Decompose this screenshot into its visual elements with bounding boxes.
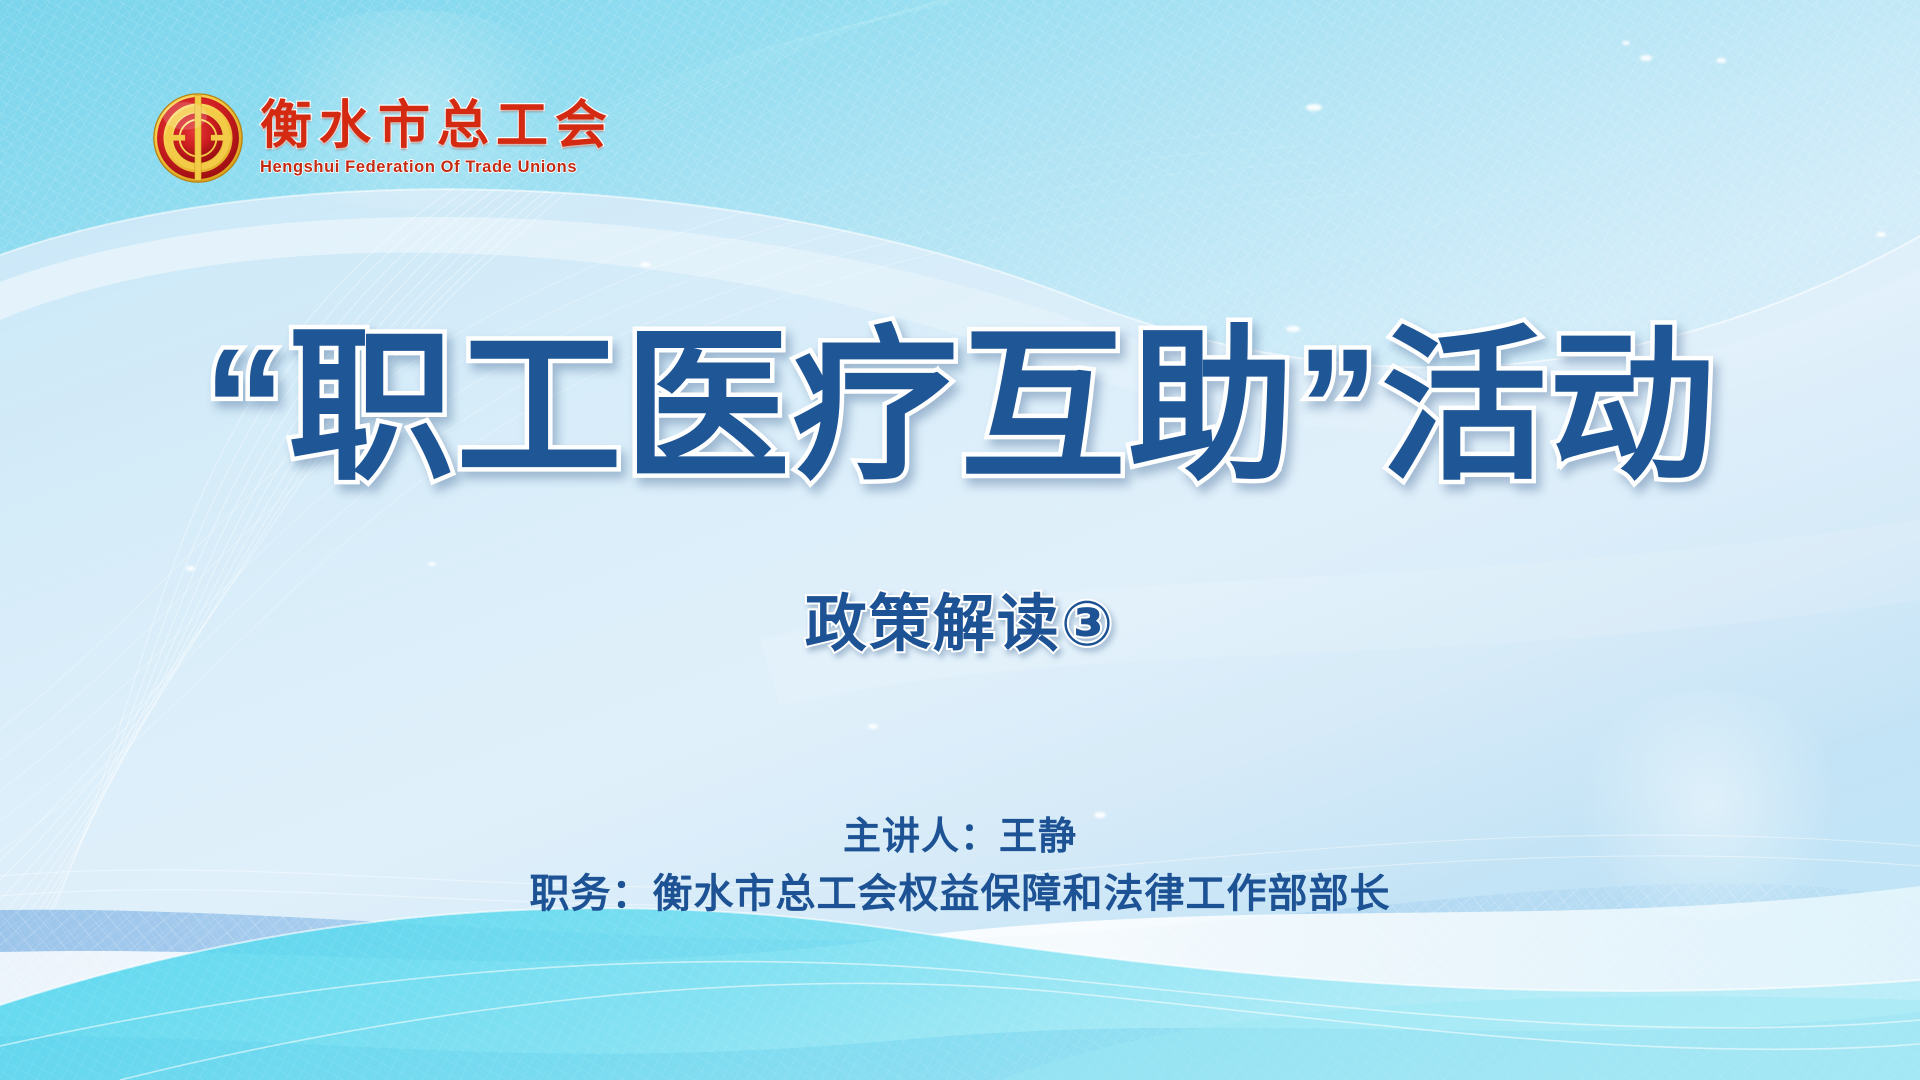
presenter-speaker-line: 主讲人：王静 <box>0 810 1920 865</box>
sparkle <box>428 562 436 566</box>
organization-logo: 衡水市总工会 Hengshui Federation Of Trade Unio… <box>152 92 614 184</box>
sparkle <box>1306 104 1322 111</box>
acftu-union-emblem-icon <box>152 92 244 184</box>
logo-text-group: 衡水市总工会 Hengshui Federation Of Trade Unio… <box>260 100 614 176</box>
sparkle <box>1716 58 1726 63</box>
title-slide: 衡水市总工会 Hengshui Federation Of Trade Unio… <box>0 0 1920 1080</box>
sparkle <box>1876 232 1886 237</box>
sparkle <box>186 566 195 571</box>
page-title-main: “职工医疗互助”活动 <box>0 318 1920 497</box>
presenter-role-line: 职务：衡水市总工会权益保障和法律工作部部长 <box>0 865 1920 923</box>
presenter-info: 主讲人：王静 职务：衡水市总工会权益保障和法律工作部部长 <box>0 810 1920 923</box>
sparkle <box>1622 41 1630 45</box>
logo-org-name-cn: 衡水市总工会 <box>260 100 614 152</box>
sparkle <box>640 262 651 267</box>
sparkle <box>1640 55 1652 61</box>
page-title-sub: 政策解读③ <box>0 573 1920 663</box>
logo-org-name-en: Hengshui Federation Of Trade Unions <box>260 159 614 176</box>
sparkle <box>868 724 878 729</box>
